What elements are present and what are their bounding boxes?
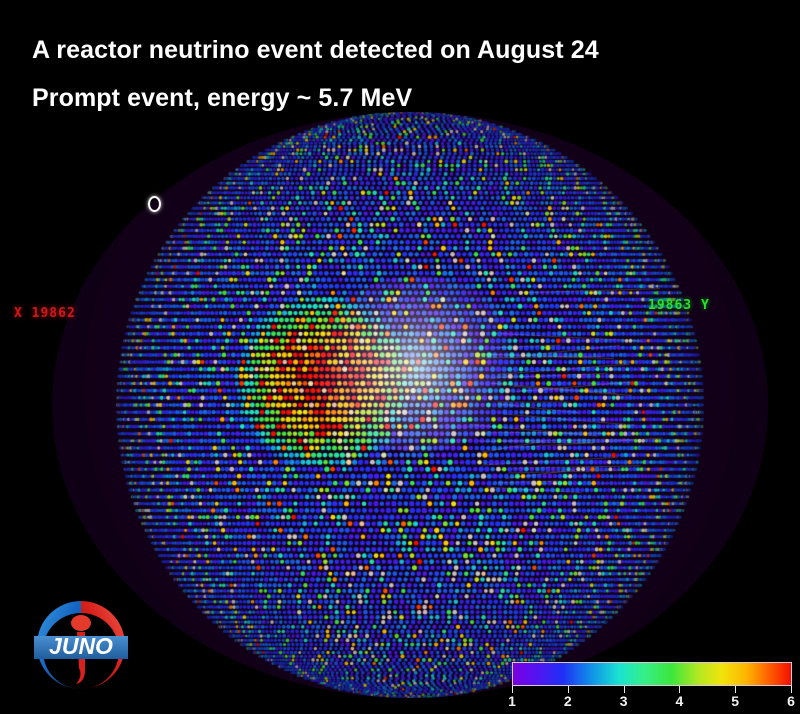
colorbar-tick (679, 686, 680, 693)
colorbar-tick (735, 686, 736, 693)
title-block: A reactor neutrino event detected on Aug… (32, 26, 599, 122)
colorbar-tick-label: 4 (667, 693, 691, 709)
juno-logo: JUNO (22, 592, 140, 698)
colorbar-tick-label: 1 (500, 693, 524, 709)
event-display-window: A reactor neutrino event detected on Aug… (0, 0, 800, 714)
colorbar-tick-label: 2 (556, 693, 580, 709)
title-line-1: A reactor neutrino event detected on Aug… (32, 26, 599, 74)
colorbar-tick (791, 686, 792, 693)
colorbar-tick-label: 5 (723, 693, 747, 709)
pmt-sphere[interactable] (52, 112, 768, 698)
colorbar-gradient (512, 662, 792, 686)
colorbar-tick-label: 6 (779, 693, 800, 709)
juno-logo-icon: JUNO (22, 592, 140, 698)
colorbar-tick (568, 686, 569, 693)
charge-colorbar: 123456 (512, 662, 792, 710)
colorbar-tick (512, 686, 513, 693)
pmt-hit-map-canvas[interactable] (52, 112, 768, 698)
detector-event-display[interactable] (52, 112, 768, 698)
colorbar-tick (624, 686, 625, 693)
colorbar-tick-label: 3 (612, 693, 636, 709)
juno-logo-text: JUNO (49, 633, 113, 659)
